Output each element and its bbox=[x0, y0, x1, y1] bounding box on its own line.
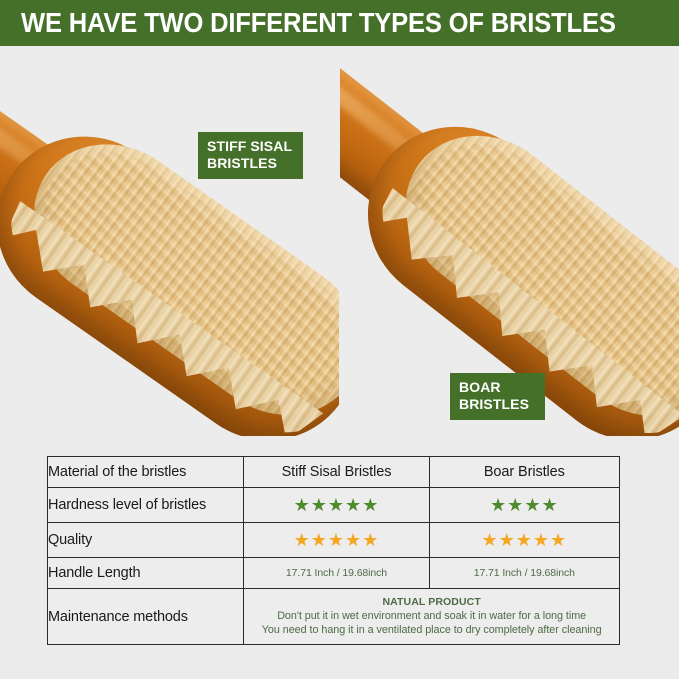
star-icon: ★ bbox=[362, 496, 379, 514]
quality-stars-boar: ★★★★★ bbox=[429, 523, 619, 558]
star-icon: ★ bbox=[516, 531, 533, 549]
star-icon: ★ bbox=[311, 496, 328, 514]
star-icon: ★ bbox=[533, 531, 550, 549]
maintenance-methods-cell: NATUAL PRODUCT Don't put it in wet envir… bbox=[244, 589, 620, 645]
star-icon: ★ bbox=[362, 531, 379, 549]
maintenance-line-2: You need to hang it in a ventilated plac… bbox=[244, 623, 619, 637]
table-header-material: Material of the bristles bbox=[48, 457, 244, 488]
star-icon: ★ bbox=[345, 496, 362, 514]
star-icon: ★ bbox=[481, 531, 498, 549]
header-banner: WE HAVE TWO DIFFERENT TYPES OF BRISTLES bbox=[0, 0, 679, 46]
badge-boar-bristles: BOAR BRISTLES bbox=[450, 373, 545, 420]
handle-length-sisal: 17.71 Inch / 19.68inch bbox=[244, 558, 429, 589]
table-row: Handle Length 17.71 Inch / 19.68inch 17.… bbox=[48, 558, 620, 589]
star-icon: ★ bbox=[490, 496, 507, 514]
star-icon: ★ bbox=[328, 531, 345, 549]
stiff-sisal-brush-photo bbox=[0, 46, 339, 436]
hardness-stars-boar: ★★★★ bbox=[429, 488, 619, 523]
star-icon: ★ bbox=[524, 496, 541, 514]
table-header-boar: Boar Bristles bbox=[429, 457, 619, 488]
infographic-page: WE HAVE TWO DIFFERENT TYPES OF BRISTLES … bbox=[0, 0, 679, 679]
table-row: Quality ★★★★★ ★★★★★ bbox=[48, 523, 620, 558]
quality-stars-sisal: ★★★★★ bbox=[244, 523, 429, 558]
star-icon: ★ bbox=[294, 531, 311, 549]
row-label-maintenance: Maintenance methods bbox=[48, 589, 244, 645]
table-row: Hardness level of bristles ★★★★★ ★★★★ bbox=[48, 488, 620, 523]
star-icon: ★ bbox=[507, 496, 524, 514]
badge-stiff-sisal-bristles: STIFF SISAL BRISTLES bbox=[198, 132, 303, 179]
product-photo-row: STIFF SISAL BRISTLES BOAR BRISTLES bbox=[0, 46, 679, 436]
table-header-sisal: Stiff Sisal Bristles bbox=[244, 457, 429, 488]
hardness-stars-sisal: ★★★★★ bbox=[244, 488, 429, 523]
comparison-table-wrapper: Material of the bristles Stiff Sisal Bri… bbox=[47, 456, 620, 643]
maintenance-line-1: Don't put it in wet environment and soak… bbox=[244, 609, 619, 623]
star-icon: ★ bbox=[499, 531, 516, 549]
star-icon: ★ bbox=[550, 531, 567, 549]
table-row-header: Material of the bristles Stiff Sisal Bri… bbox=[48, 457, 620, 488]
row-label-handle-length: Handle Length bbox=[48, 558, 244, 589]
star-icon: ★ bbox=[328, 496, 345, 514]
star-icon: ★ bbox=[345, 531, 362, 549]
table-row: Maintenance methods NATUAL PRODUCT Don't… bbox=[48, 589, 620, 645]
page-title: WE HAVE TWO DIFFERENT TYPES OF BRISTLES bbox=[21, 9, 616, 37]
comparison-table: Material of the bristles Stiff Sisal Bri… bbox=[47, 456, 620, 645]
handle-length-boar: 17.71 Inch / 19.68inch bbox=[429, 558, 619, 589]
star-icon: ★ bbox=[311, 531, 328, 549]
row-label-hardness: Hardness level of bristles bbox=[48, 488, 244, 523]
maintenance-title: NATUAL PRODUCT bbox=[244, 596, 619, 608]
brush-illustration-sisal bbox=[0, 46, 339, 436]
star-icon: ★ bbox=[541, 496, 558, 514]
star-icon: ★ bbox=[294, 496, 311, 514]
row-label-quality: Quality bbox=[48, 523, 244, 558]
